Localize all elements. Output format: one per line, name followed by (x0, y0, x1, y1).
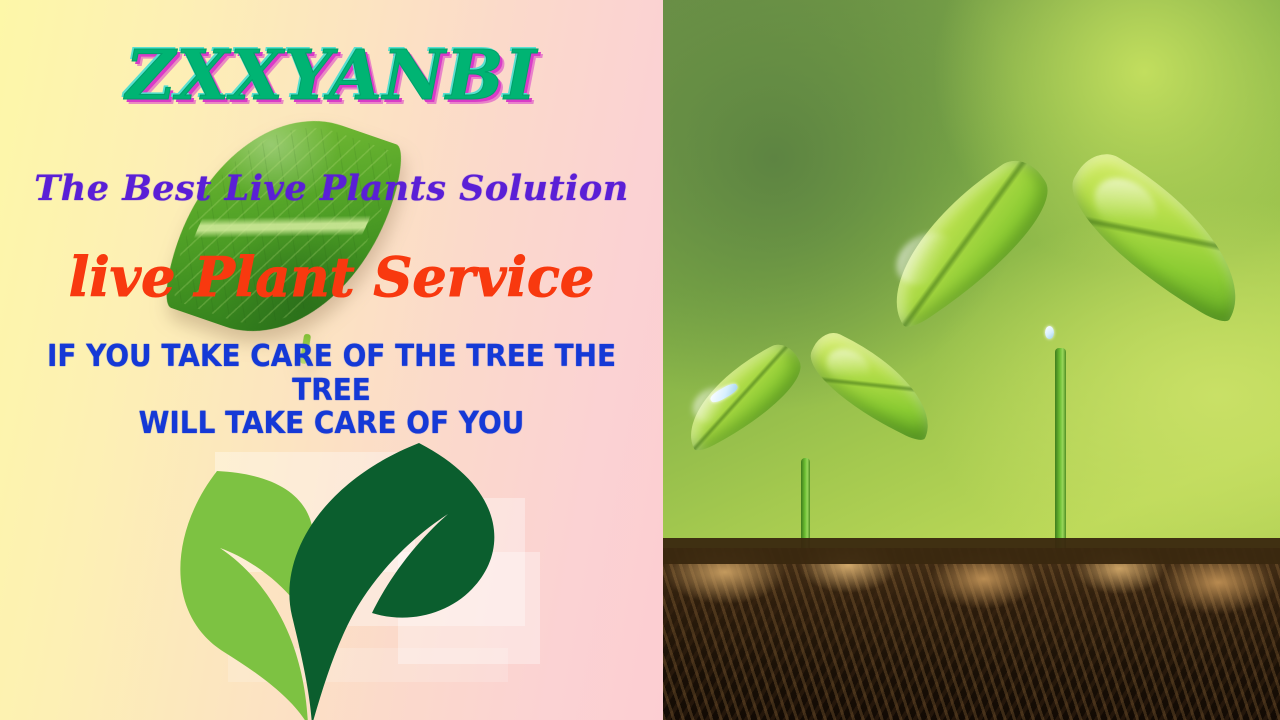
leaf-rib (796, 326, 949, 443)
seedling-leaf-left (669, 338, 815, 454)
service-headline: live Plant Service (0, 248, 663, 307)
dew-drop (1045, 326, 1054, 339)
quote-text: IF YOU TAKE CARE OF THE TREE THE TREE WI… (23, 340, 640, 441)
logo-leaf-dark (289, 443, 494, 720)
plant-service-banner: ZXXYANBI The Best Live Plants Solution l… (0, 0, 1280, 720)
tagline: The Best Live Plants Solution (0, 170, 663, 209)
page-title: ZXXYANBI (0, 42, 663, 110)
decor-leaf-icon (155, 87, 410, 368)
leaf-rib (669, 338, 815, 454)
leaf-rib (1049, 143, 1272, 326)
two-leaf-logo-icon (160, 440, 540, 720)
seedling-leaf-right (1049, 143, 1272, 326)
quote-line-1: IF YOU TAKE CARE OF THE TREE THE TREE (23, 340, 640, 407)
soil-ground (663, 548, 1280, 720)
seedling-leaf-right (796, 326, 949, 443)
seedling-leaf-left (860, 150, 1072, 332)
quote-line-2: WILL TAKE CARE OF YOU (23, 407, 640, 441)
seedling-photo-panel (663, 0, 1280, 720)
left-text-panel: ZXXYANBI The Best Live Plants Solution l… (0, 0, 663, 720)
leaf-rib (860, 150, 1072, 332)
